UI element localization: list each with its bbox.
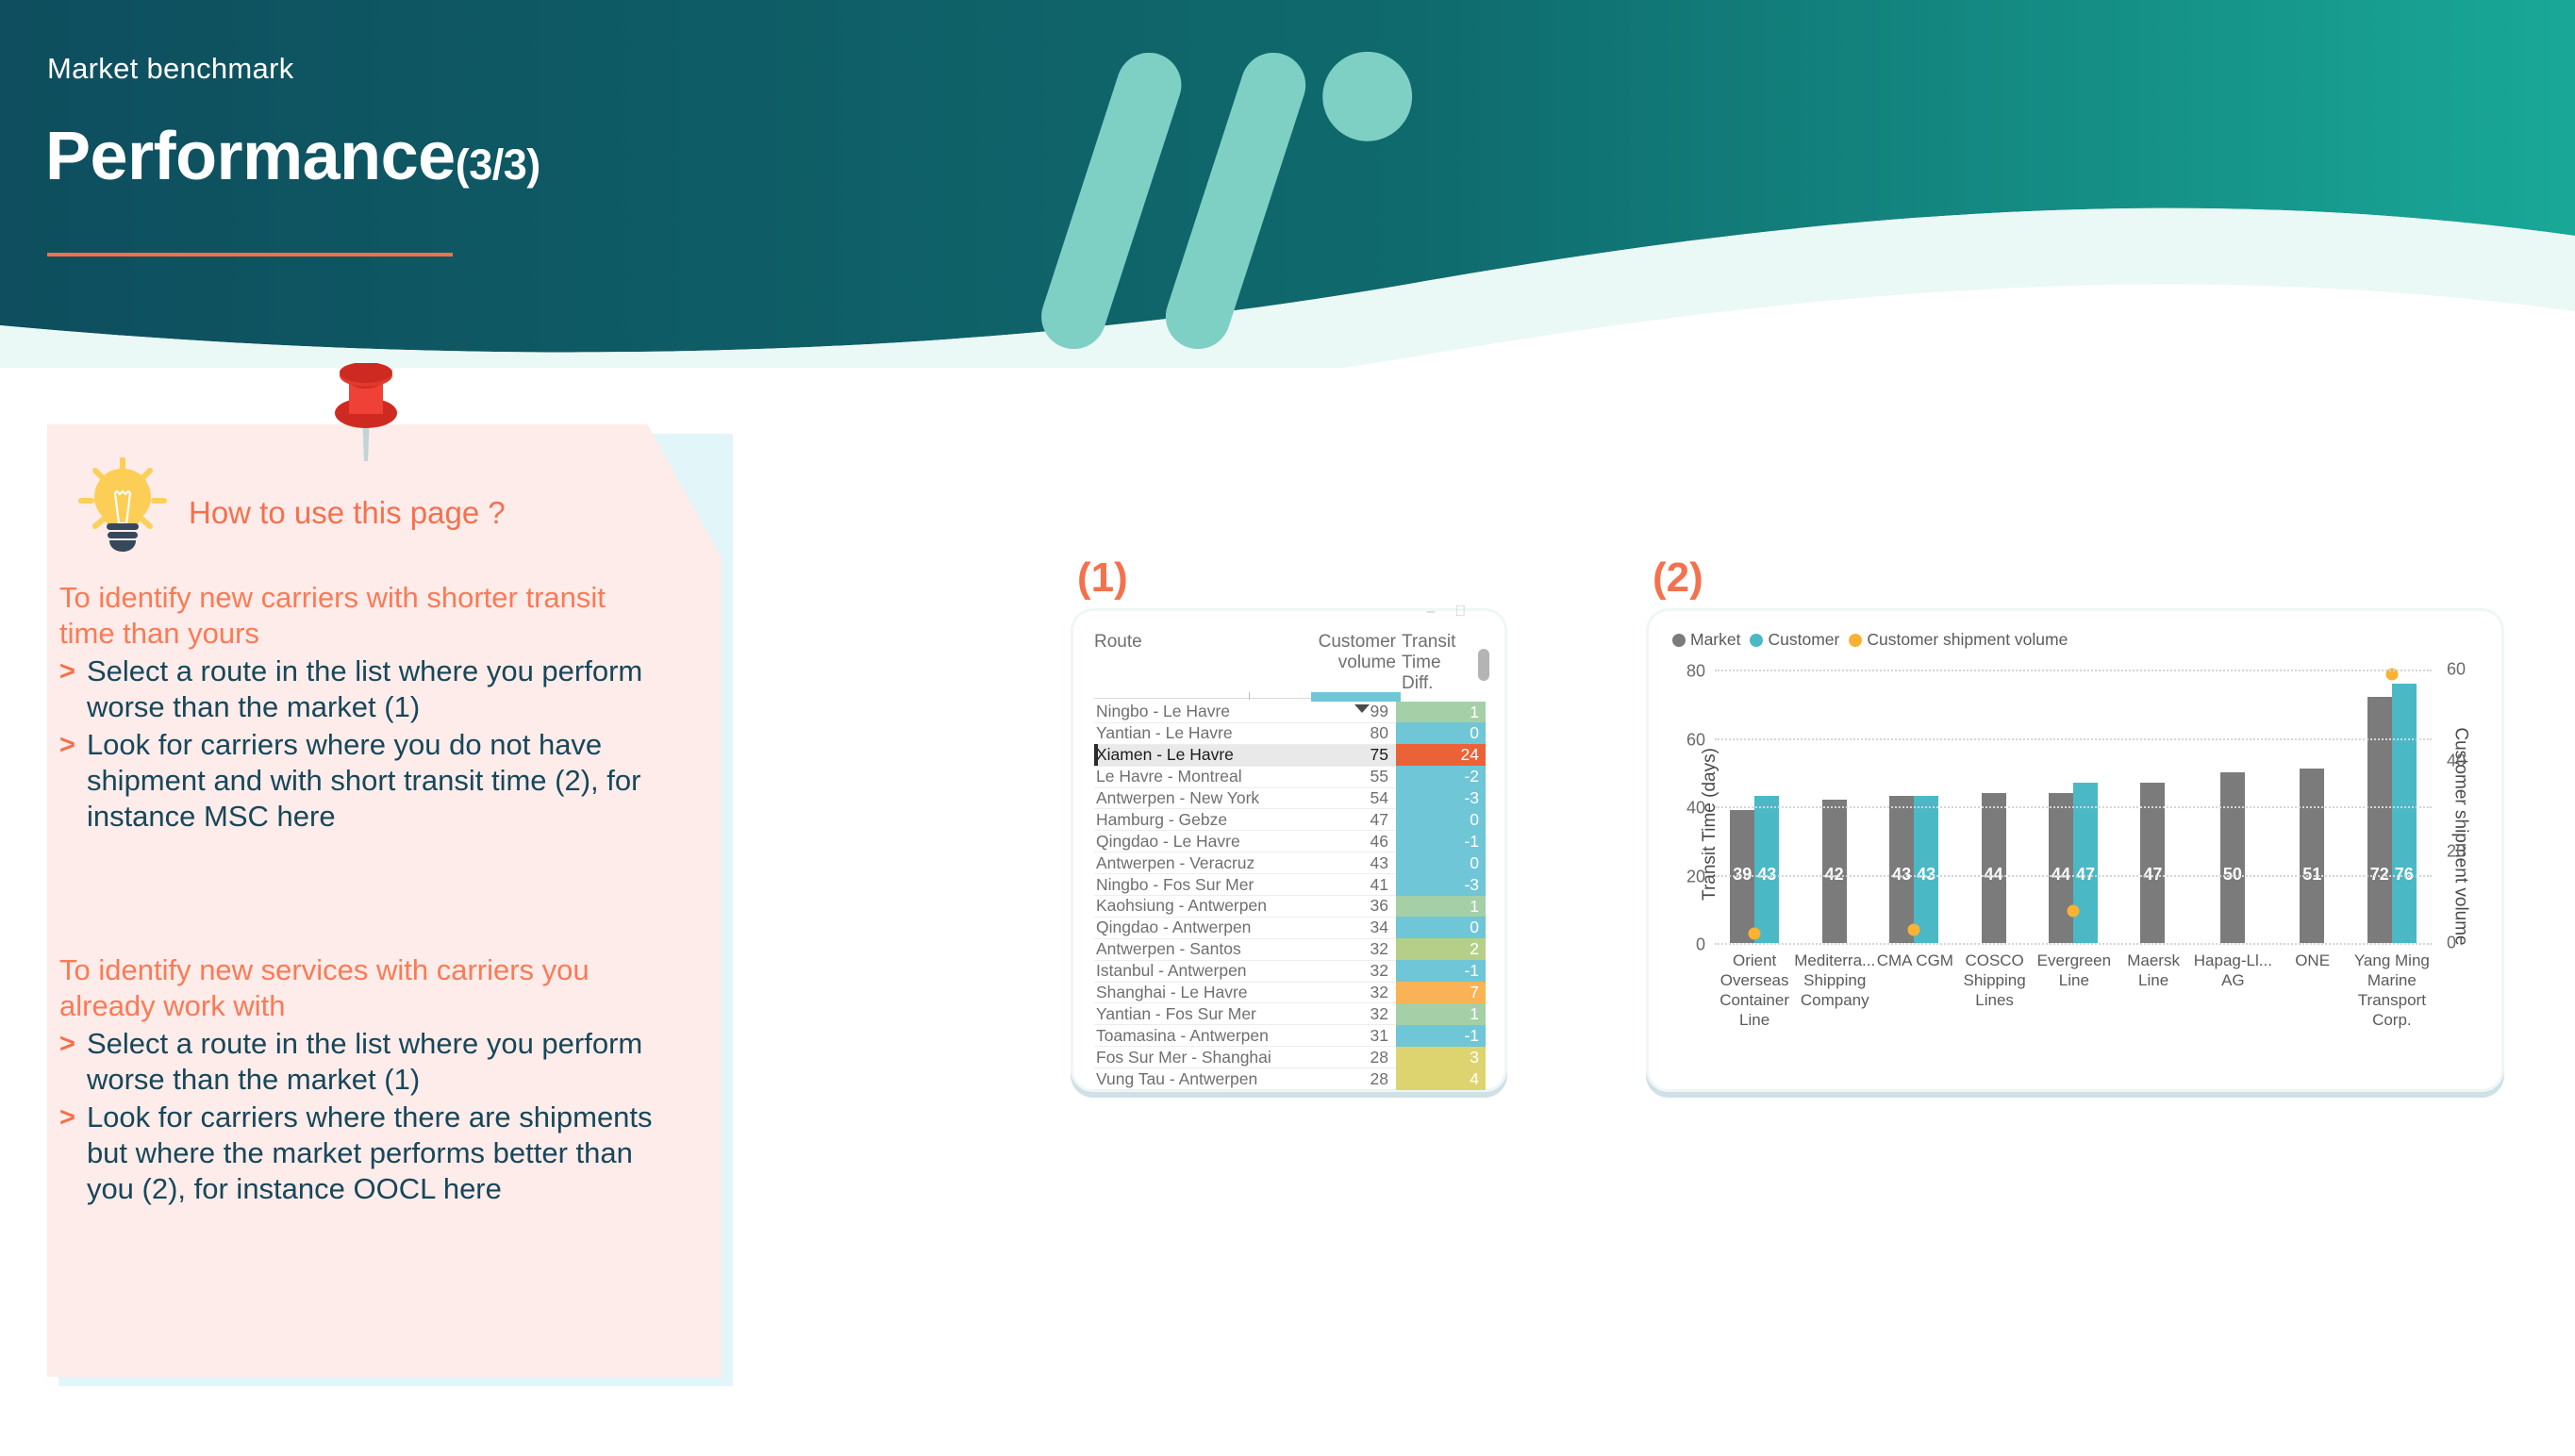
- table-row[interactable]: Istanbul - Antwerpen32-1: [1094, 961, 1486, 983]
- legend-label: Customer shipment volume: [1867, 630, 2068, 650]
- minimize-icon[interactable]: –: [1426, 604, 1435, 620]
- route-table-card[interactable]: – ⎕ Route Customer volume Transit Time D…: [1071, 608, 1507, 1092]
- cell-customer-volume: 32: [1290, 983, 1396, 1002]
- chart-x-label: Mediterra... Shipping Company: [1794, 951, 1875, 1030]
- cell-route: Shanghai - Le Havre: [1094, 983, 1290, 1002]
- pushpin-icon: [328, 363, 404, 462]
- bullet-text: Look for carriers where you do not have …: [87, 727, 668, 835]
- cell-route: Yantian - Fos Sur Mer: [1094, 1004, 1290, 1024]
- cell-customer-volume: 46: [1290, 832, 1396, 852]
- chart-y-tick: 20: [1686, 867, 1705, 886]
- chart-plot-area: 39434243434444474750517276 0204060800204…: [1715, 670, 2432, 943]
- cell-customer-volume: 54: [1290, 788, 1396, 808]
- chart-bar[interactable]: 72: [2367, 697, 2392, 943]
- note-section-2: To identify new services with carriers y…: [59, 952, 668, 1207]
- cell-transit-time-diff: -1: [1396, 960, 1486, 982]
- chart-bar[interactable]: 51: [2300, 769, 2324, 943]
- chart-gridline: 40: [1715, 806, 2432, 808]
- chart-x-label: Yang Ming Marine Transport Corp.: [2352, 951, 2432, 1030]
- table-body: Ningbo - Le Havre991Yantian - Le Havre80…: [1094, 702, 1486, 1090]
- table-row[interactable]: Vung Tau - Antwerpen284: [1094, 1068, 1486, 1090]
- table-row[interactable]: Ningbo - Fos Sur Mer41-3: [1094, 874, 1486, 896]
- column-header-route[interactable]: Route: [1094, 632, 1290, 694]
- cell-transit-time-diff: -3: [1396, 874, 1486, 896]
- customer-shipment-volume-marker[interactable]: [1749, 928, 1761, 940]
- column-header-customer-volume[interactable]: Customer volume: [1290, 632, 1396, 694]
- chart-gridline: 0: [1715, 943, 2432, 945]
- cell-transit-time-diff: 4: [1396, 1068, 1486, 1090]
- cell-customer-volume: 75: [1290, 745, 1396, 765]
- table-row[interactable]: Fos Sur Mer - Shanghai283: [1094, 1047, 1486, 1068]
- diff-column-top-cap: [1311, 692, 1401, 702]
- legend-swatch-icon: [1750, 634, 1763, 647]
- chart-x-label: Orient Overseas Container Line: [1715, 951, 1794, 1030]
- chart-y2-tick: 40: [2447, 751, 2466, 770]
- legend-item[interactable]: Market: [1672, 630, 1740, 650]
- w-logo: [0, 17, 2550, 368]
- cell-transit-time-diff: 24: [1396, 744, 1486, 766]
- table-row[interactable]: Antwerpen - Santos322: [1094, 939, 1486, 961]
- cell-customer-volume: 32: [1290, 961, 1396, 981]
- cell-route: Qingdao - Le Havre: [1094, 832, 1290, 852]
- cell-transit-time-diff: -3: [1396, 787, 1486, 809]
- expand-icon[interactable]: ⎕: [1455, 604, 1465, 620]
- legend-label: Customer: [1768, 630, 1839, 650]
- cell-customer-volume: 55: [1290, 767, 1396, 786]
- table-row[interactable]: Kaohsiung - Antwerpen361: [1094, 896, 1486, 918]
- column-header-customer-volume-label: Customer volume: [1319, 632, 1396, 672]
- customer-shipment-volume-marker[interactable]: [1908, 923, 1920, 935]
- chart-bar[interactable]: 43: [1889, 796, 1914, 943]
- cell-route: Antwerpen - New York: [1094, 788, 1290, 808]
- vertical-scrollbar[interactable]: [1478, 649, 1489, 681]
- legend-item[interactable]: Customer: [1750, 630, 1839, 650]
- cell-customer-volume: 34: [1290, 918, 1396, 937]
- cell-route: Qingdao - Antwerpen: [1094, 918, 1290, 937]
- cell-route: Antwerpen - Veracruz: [1094, 853, 1290, 873]
- cell-route: Xiamen - Le Havre: [1094, 745, 1290, 765]
- how-to-use-note: [47, 424, 722, 1377]
- cell-transit-time-diff: 2: [1396, 938, 1486, 960]
- cell-customer-volume: 47: [1290, 810, 1396, 830]
- cell-route: Vung Tau - Antwerpen: [1094, 1069, 1290, 1089]
- chart-y-tick: 0: [1696, 935, 1705, 955]
- table-row[interactable]: Yantian - Le Havre800: [1094, 723, 1486, 745]
- cell-transit-time-diff: 0: [1396, 722, 1486, 744]
- cell-transit-time-diff: 1: [1396, 896, 1486, 918]
- chart-y-tick: 80: [1686, 662, 1705, 682]
- cell-transit-time-diff: 1: [1396, 1003, 1486, 1025]
- chart-y-tick: 40: [1686, 799, 1705, 819]
- chart-x-label: Hapag-Ll... AG: [2193, 951, 2272, 1030]
- chart-bar[interactable]: 42: [1822, 800, 1847, 943]
- chart-y-tick: 60: [1686, 730, 1705, 750]
- cell-customer-volume: 43: [1290, 853, 1396, 873]
- cell-route: Ningbo - Fos Sur Mer: [1094, 875, 1290, 895]
- chart-y2-tick: 60: [2447, 660, 2466, 680]
- chart-y2-tick: 20: [2447, 842, 2466, 862]
- cell-route: Antwerpen - Santos: [1094, 939, 1290, 959]
- note-section-1-bullet-1: > Select a route in the list where you p…: [59, 654, 668, 725]
- legend-label: Market: [1690, 630, 1740, 650]
- table-row[interactable]: Qingdao - Le Havre46-1: [1094, 831, 1486, 852]
- table-row[interactable]: Xiamen - Le Havre7524: [1094, 745, 1486, 767]
- note-heading: How to use this page ?: [189, 495, 506, 531]
- cell-transit-time-diff: 1: [1396, 702, 1486, 723]
- chart-y2-tick: 0: [2447, 934, 2456, 953]
- bullet-chevron-icon: >: [59, 1026, 75, 1062]
- legend-swatch-icon: [1672, 634, 1686, 647]
- legend-swatch-icon: [1849, 634, 1862, 647]
- callout-two: (2): [1653, 554, 1703, 602]
- table-window-controls[interactable]: – ⎕: [1426, 604, 1465, 620]
- chart-x-label: Evergreen Line: [2035, 951, 2114, 1030]
- bullet-text: Select a route in the list where you per…: [87, 1026, 668, 1098]
- chart-bar[interactable]: 50: [2220, 772, 2245, 943]
- table-row[interactable]: Ningbo - Le Havre991: [1094, 702, 1486, 723]
- row-selection-marker: [1094, 744, 1098, 766]
- lightbulb-icon: [75, 457, 170, 552]
- column-header-transit-time-diff[interactable]: Transit Time Diff.: [1396, 632, 1476, 694]
- cell-transit-time-diff: 0: [1396, 917, 1486, 938]
- table-row[interactable]: Toamasina - Antwerpen31-1: [1094, 1025, 1486, 1047]
- note-section-1-title: To identify new carriers with shorter tr…: [59, 580, 668, 652]
- bullet-text: Select a route in the list where you per…: [87, 654, 668, 725]
- cell-transit-time-diff: 0: [1396, 852, 1486, 874]
- cell-customer-volume: 99: [1290, 702, 1396, 721]
- bullet-chevron-icon: >: [59, 727, 75, 763]
- chart-gridline: 60: [1715, 738, 2432, 740]
- table-row[interactable]: Hamburg - Gebze470: [1094, 809, 1486, 831]
- table-row[interactable]: Shanghai - Le Havre327: [1094, 983, 1486, 1004]
- cell-route: Kaohsiung - Antwerpen: [1094, 896, 1290, 916]
- route-table: Route Customer volume Transit Time Diff.: [1094, 632, 1486, 696]
- page-header: Market benchmark Performance(3/3): [0, 0, 2575, 368]
- callout-one: (1): [1077, 554, 1128, 602]
- chart-x-axis-labels: Orient Overseas Container LineMediterra.…: [1715, 951, 2432, 1030]
- table-row[interactable]: Antwerpen - Veracruz430: [1094, 852, 1486, 874]
- chart-bar[interactable]: 76: [2392, 684, 2417, 944]
- bullet-chevron-icon: >: [59, 654, 75, 689]
- chart-gridline: 80: [1715, 670, 2432, 671]
- note-section-2-title: To identify new services with carriers y…: [59, 952, 668, 1024]
- cell-customer-volume: 32: [1290, 1004, 1396, 1024]
- chart-bar[interactable]: 43: [1914, 796, 1938, 943]
- cell-transit-time-diff: -1: [1396, 831, 1486, 852]
- chart-gridline: 20: [1715, 875, 2432, 877]
- cell-customer-volume: 36: [1290, 896, 1396, 916]
- cell-route: Hamburg - Gebze: [1094, 810, 1290, 830]
- cell-customer-volume: 28: [1290, 1069, 1396, 1089]
- cell-customer-volume: 80: [1290, 723, 1396, 743]
- table-row[interactable]: Qingdao - Antwerpen340: [1094, 918, 1486, 939]
- cell-transit-time-diff: -1: [1396, 1025, 1486, 1047]
- table-row[interactable]: Yantian - Fos Sur Mer321: [1094, 1003, 1486, 1025]
- chart-bar[interactable]: 43: [1754, 796, 1779, 943]
- cell-transit-time-diff: 3: [1396, 1047, 1486, 1068]
- cell-customer-volume: 32: [1290, 939, 1396, 959]
- chart-legend: MarketCustomerCustomer shipment volume: [1672, 630, 2073, 650]
- chart-bar[interactable]: 44: [2049, 793, 2073, 944]
- table-header-tick: [1249, 692, 1250, 700]
- bullet-text: Look for carriers where there are shipme…: [87, 1100, 668, 1207]
- table-row[interactable]: Antwerpen - New York54-3: [1094, 788, 1486, 810]
- chart-x-label: CMA CGM: [1875, 951, 1954, 1030]
- note-section-1: To identify new carriers with shorter tr…: [59, 580, 668, 835]
- table-row[interactable]: Le Havre - Montreal55-2: [1094, 767, 1486, 788]
- table-header-row: Route Customer volume Transit Time Diff.: [1094, 632, 1486, 696]
- cell-route: Yantian - Le Havre: [1094, 723, 1290, 743]
- note-section-2-bullet-2: > Look for carriers where there are ship…: [59, 1100, 668, 1207]
- cell-route: Istanbul - Antwerpen: [1094, 961, 1290, 981]
- bullet-chevron-icon: >: [59, 1100, 75, 1135]
- cell-route: Le Havre - Montreal: [1094, 767, 1290, 786]
- cell-route: Ningbo - Le Havre: [1094, 702, 1290, 721]
- note-section-2-bullet-1: > Select a route in the list where you p…: [59, 1026, 668, 1098]
- chart-bar[interactable]: 44: [1982, 793, 2006, 944]
- chart-x-label: COSCO Shipping Lines: [1954, 951, 2034, 1030]
- cell-transit-time-diff: 0: [1396, 809, 1486, 831]
- carrier-transit-time-chart-card[interactable]: MarketCustomerCustomer shipment volume T…: [1646, 608, 2504, 1092]
- note-section-1-bullet-2: > Look for carriers where you do not hav…: [59, 727, 668, 835]
- chart-x-label: ONE: [2272, 951, 2351, 1030]
- cell-customer-volume: 41: [1290, 875, 1396, 895]
- customer-shipment-volume-marker[interactable]: [2067, 905, 2079, 918]
- cell-customer-volume: 31: [1290, 1026, 1396, 1046]
- cell-route: Fos Sur Mer - Shanghai: [1094, 1048, 1290, 1067]
- chart-x-label: Maersk Line: [2114, 951, 2193, 1030]
- cell-transit-time-diff: -2: [1396, 766, 1486, 787]
- cell-transit-time-diff: 7: [1396, 982, 1486, 1003]
- legend-item[interactable]: Customer shipment volume: [1849, 630, 2068, 650]
- cell-route: Toamasina - Antwerpen: [1094, 1026, 1290, 1046]
- cell-customer-volume: 28: [1290, 1048, 1396, 1067]
